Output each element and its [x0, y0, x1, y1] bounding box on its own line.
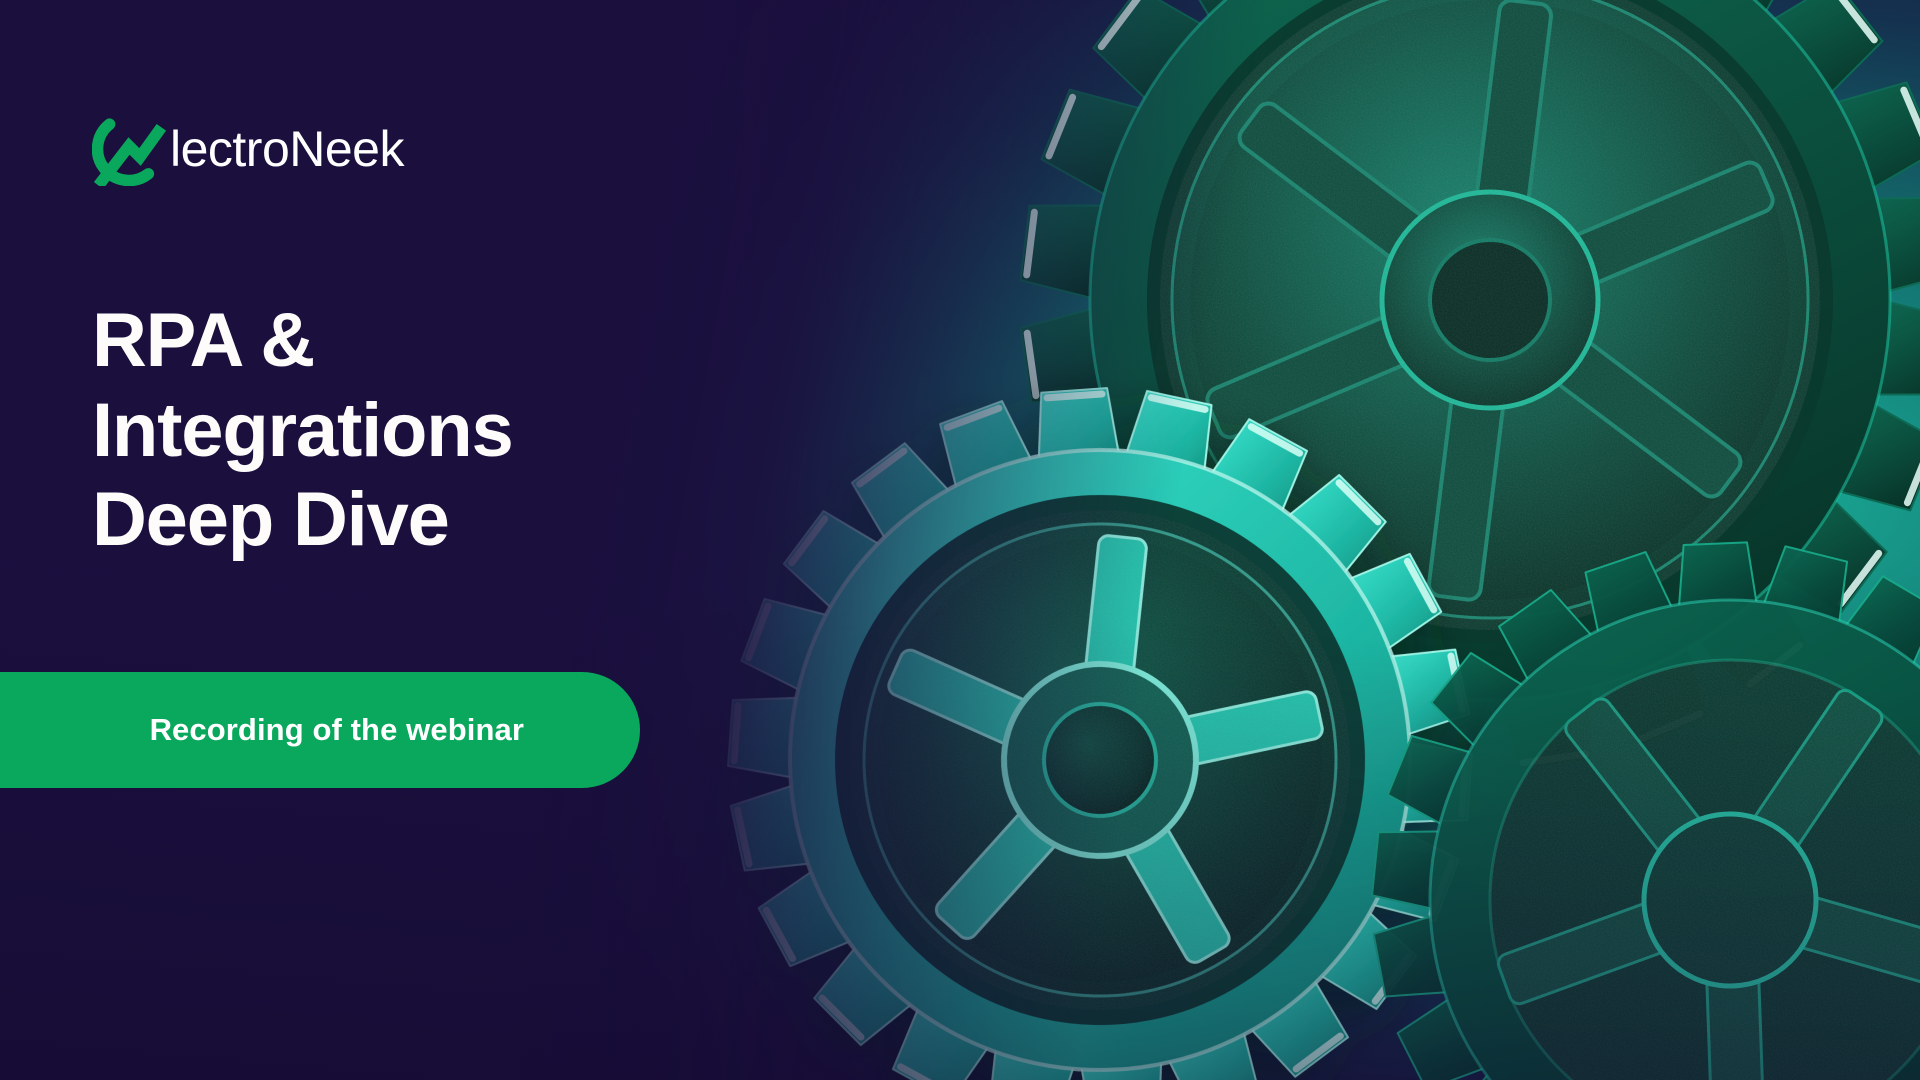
- recording-cta-label: Recording of the webinar: [150, 712, 524, 748]
- headline-line-2: Integrations: [92, 386, 732, 476]
- page-title: RPA & Integrations Deep Dive: [92, 296, 732, 565]
- brand-wordmark: lectroNeek: [170, 124, 404, 174]
- headline-line-1: RPA &: [92, 296, 732, 386]
- webinar-banner: lectroNeek RPA & Integrations Deep Dive …: [0, 0, 1920, 1080]
- brand-logo[interactable]: lectroNeek: [92, 110, 404, 188]
- electroneek-arrow-circle-icon: [92, 112, 166, 186]
- headline-line-3: Deep Dive: [92, 475, 732, 565]
- recording-cta-button[interactable]: Recording of the webinar: [0, 672, 640, 788]
